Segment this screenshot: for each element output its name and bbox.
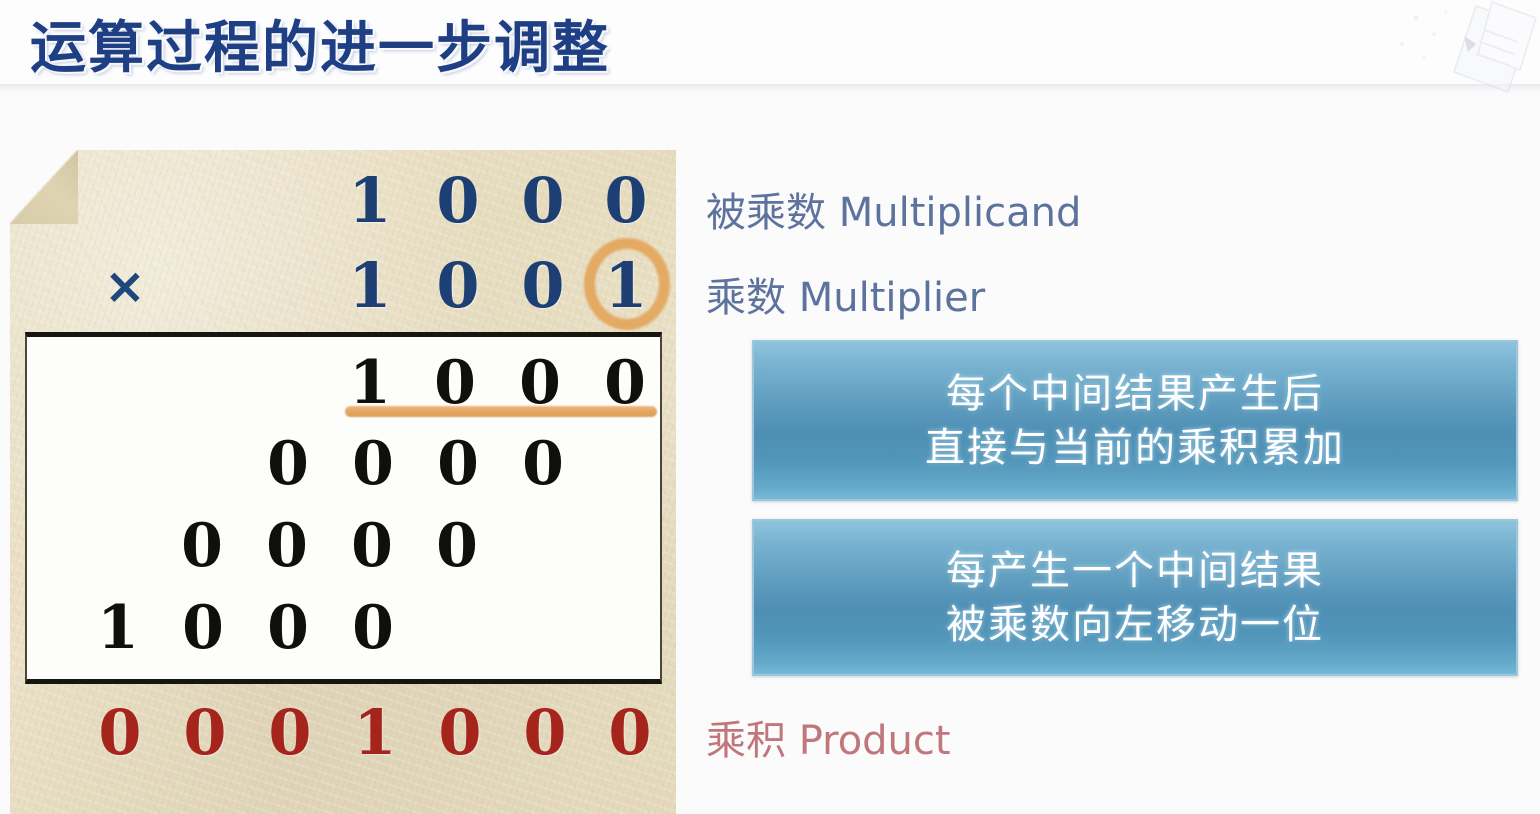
digit-cell: 0: [513, 165, 573, 237]
digit-cell: 1: [345, 697, 405, 769]
digit-cell: 0: [175, 697, 235, 769]
partial-product-row: 0 0 0 0: [0, 428, 676, 500]
multiplier-row: × 1 0 0 1: [0, 250, 676, 322]
digit-cell: 0: [258, 592, 318, 664]
label-product: 乘积 Product: [706, 708, 951, 766]
digit-cell: 0: [428, 250, 488, 322]
label-multiplier: 乘数 Multiplier: [706, 265, 985, 323]
digit-cell: 0: [173, 592, 233, 664]
digit-cell: 0: [515, 697, 575, 769]
digit-cell: 0: [257, 510, 317, 582]
digit-cell: 0: [427, 510, 487, 582]
digit-cell: 0: [343, 428, 403, 500]
digit-cell: 1: [340, 165, 400, 237]
digit-cell: 0: [90, 697, 150, 769]
digit-cell: 0: [428, 428, 488, 500]
header-divider: [0, 84, 1540, 93]
label-multiplicand: 被乘数 Multiplicand: [706, 180, 1081, 238]
digit-cell: 0: [600, 697, 660, 769]
callout-line: 每个中间结果产生后: [946, 367, 1324, 421]
digit-cell: 0: [596, 165, 656, 237]
digit-cell: 0: [258, 428, 318, 500]
partial-product-row: 0 0 0 0: [0, 510, 676, 582]
callout-accumulate-note: 每个中间结果产生后 直接与当前的乘积累加: [752, 340, 1518, 501]
digit-cell: 1: [88, 592, 148, 664]
slide-canvas: 运算过程的进一步调整 1 0 0 0 × 1 0 0 1: [0, 0, 1540, 814]
digit-cell: 0: [430, 697, 490, 769]
digit-cell: 0: [428, 165, 488, 237]
digit-cell: 0: [342, 510, 402, 582]
digit-cell: 0: [260, 697, 320, 769]
callout-line: 每产生一个中间结果: [946, 544, 1324, 598]
partial-product-row: 1 0 0 0: [0, 592, 676, 664]
digit-cell: 0: [513, 428, 573, 500]
callout-line: 直接与当前的乘积累加: [925, 421, 1345, 475]
product-row: 0 0 0 1 0 0 0: [0, 697, 676, 769]
digit-cell: 0: [172, 510, 232, 582]
page-title: 运算过程的进一步调整: [30, 3, 610, 84]
callout-shift-note: 每产生一个中间结果 被乘数向左移动一位: [752, 519, 1518, 676]
accumulate-underline-annotation: [345, 406, 657, 417]
digit-cell: 1: [340, 250, 400, 322]
callout-line: 被乘数向左移动一位: [946, 598, 1324, 652]
highlight-circle-annotation: [584, 238, 670, 330]
digit-cell: 0: [513, 250, 573, 322]
multiplicand-row: 1 0 0 0: [0, 165, 676, 237]
digit-cell: 0: [343, 592, 403, 664]
multiplication-operator: ×: [95, 250, 155, 322]
